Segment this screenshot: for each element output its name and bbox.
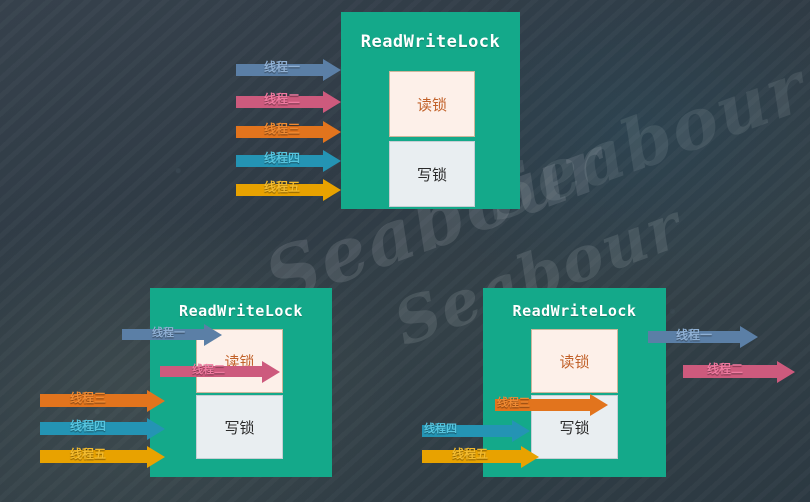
arrow-shaft	[236, 96, 323, 108]
arrow-shaft	[648, 331, 740, 343]
readwritelock-panel-top: ReadWriteLock 读锁 写锁	[341, 12, 520, 209]
arrow-shaft	[683, 365, 777, 378]
thread-arrow-3-bottom-right	[495, 399, 608, 411]
arrow-shaft	[40, 422, 147, 435]
arrow-head-icon	[521, 446, 539, 468]
read-lock-box: 读锁	[389, 71, 475, 137]
arrow-head-icon	[777, 361, 795, 383]
thread-arrow-1-released	[648, 331, 758, 343]
write-lock-label: 写锁	[417, 164, 447, 185]
write-lock-label: 写锁	[559, 417, 589, 438]
readwritelock-panel-bottom-right: ReadWriteLock 读锁 写锁	[483, 288, 666, 477]
panel-title: ReadWriteLock	[150, 302, 332, 320]
diagram-canvas: Seabour Seabour Seabour ReadWriteLock 读锁…	[0, 0, 810, 502]
arrow-head-icon	[204, 324, 222, 346]
arrow-shaft	[122, 329, 204, 340]
thread-arrow-1-top	[236, 64, 341, 76]
thread-arrow-4-bottom-left	[40, 422, 165, 435]
arrow-shaft	[236, 155, 323, 167]
arrow-shaft	[40, 394, 147, 407]
thread-arrow-1-bottom-left	[122, 329, 222, 340]
thread-arrow-2-bottom-left	[160, 366, 280, 377]
readwritelock-panel-bottom-left: ReadWriteLock 读锁 写锁	[150, 288, 332, 477]
thread-arrow-4-top	[236, 155, 341, 167]
arrow-shaft	[495, 399, 590, 411]
thread-arrow-5-bottom-right	[422, 450, 539, 463]
arrow-shaft	[422, 425, 512, 437]
write-lock-box: 写锁	[196, 395, 283, 459]
arrow-head-icon	[147, 418, 165, 440]
thread-arrow-3-bottom-left	[40, 394, 165, 407]
arrow-head-icon	[147, 390, 165, 412]
arrow-shaft	[40, 450, 147, 463]
arrow-shaft	[422, 450, 521, 463]
arrow-head-icon	[147, 446, 165, 468]
arrow-head-icon	[323, 91, 341, 113]
thread-arrow-3-top	[236, 126, 341, 138]
arrow-shaft	[236, 64, 323, 76]
read-lock-box: 读锁	[531, 329, 618, 393]
arrow-head-icon	[512, 420, 530, 442]
arrow-head-icon	[323, 121, 341, 143]
arrow-head-icon	[323, 179, 341, 201]
read-lock-label: 读锁	[559, 351, 589, 372]
read-lock-label: 读锁	[417, 94, 447, 115]
arrow-shaft	[236, 184, 323, 196]
arrow-shaft	[236, 126, 323, 138]
thread-arrow-4-bottom-right	[422, 425, 530, 437]
arrow-shaft	[160, 366, 262, 377]
arrow-head-icon	[323, 59, 341, 81]
arrow-head-icon	[323, 150, 341, 172]
panel-title: ReadWriteLock	[341, 32, 520, 52]
arrow-head-icon	[740, 326, 758, 348]
thread-arrow-2-released	[683, 365, 795, 378]
thread-arrow-5-bottom-left	[40, 450, 165, 463]
arrow-head-icon	[590, 394, 608, 416]
write-lock-box: 写锁	[389, 141, 475, 207]
panel-title: ReadWriteLock	[483, 302, 666, 320]
thread-arrow-2-top	[236, 96, 341, 108]
write-lock-label: 写锁	[224, 417, 254, 438]
thread-arrow-5-top	[236, 184, 341, 196]
arrow-head-icon	[262, 361, 280, 383]
